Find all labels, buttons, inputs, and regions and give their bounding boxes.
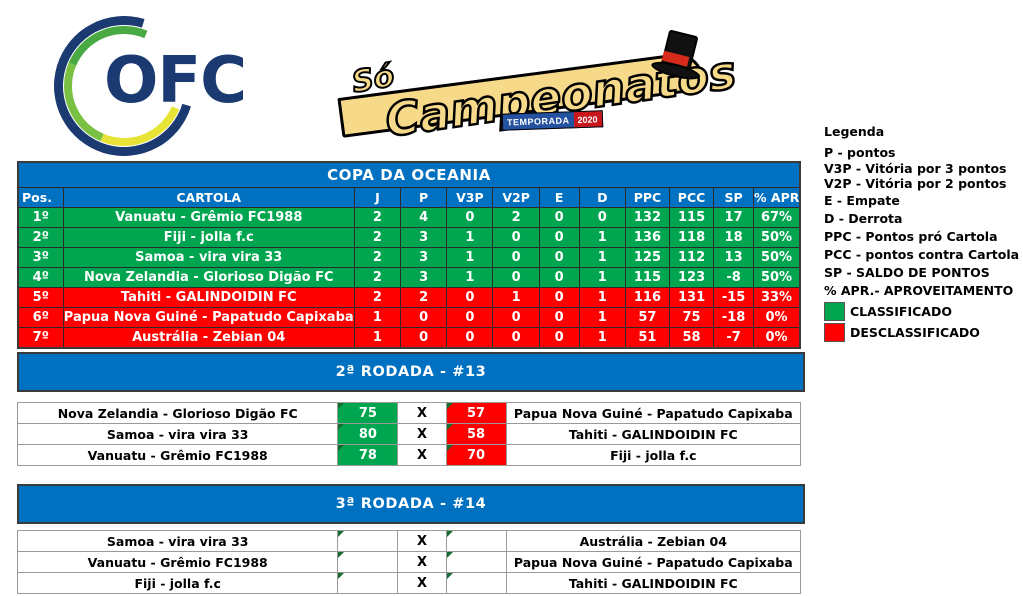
cell-stat: 75 [670, 308, 714, 328]
versus-label: X [398, 531, 446, 552]
cell-stat: 0 [539, 228, 579, 248]
cell-cartola: Nova Zelandia - Glorioso Digão FC [63, 268, 354, 288]
cell-stat: 0 [493, 268, 539, 288]
legend-line-apr: % APR.- APROVEITAMENTO [824, 282, 1022, 300]
legend-line-sp: SP - SALDO DE PONTOS [824, 264, 1022, 282]
classified-color-swatch [824, 302, 845, 321]
match-table-round-3: Samoa - vira vira 33XAustrália - Zebian … [17, 530, 801, 594]
cell-stat: 1 [579, 268, 625, 288]
standings-row: 5ºTahiti - GALINDOIDIN FC220101116131-15… [18, 288, 800, 308]
cell-stat: 50% [754, 248, 800, 268]
cell-stat: 115 [670, 208, 714, 228]
classified-label: CLASSIFICADO [850, 304, 952, 319]
so-campeonatos-logo: Só Campeonatos TEMPORADA 2020 [330, 14, 720, 149]
cell-stat: 0 [539, 268, 579, 288]
temporada-label: TEMPORADA [503, 115, 574, 127]
home-team-name: Fiji - jolla f.c [18, 573, 338, 594]
cell-stat: 0 [401, 328, 447, 349]
cell-stat: 3 [401, 268, 447, 288]
cell-stat: 2 [354, 248, 400, 268]
versus-label: X [398, 552, 446, 573]
cell-stat: 0 [493, 308, 539, 328]
cell-position: 4º [18, 268, 63, 288]
cell-stat: 1 [354, 328, 400, 349]
home-team-name: Nova Zelandia - Glorioso Digão FC [18, 403, 338, 424]
legend-line-d: D - Derrota [824, 210, 1022, 228]
cell-position: 1º [18, 208, 63, 228]
legend-panel: Legenda P - pontos V3P - Vitória por 3 p… [824, 124, 1022, 342]
cell-stat: 123 [670, 268, 714, 288]
comment-flag-icon [338, 445, 344, 451]
comment-flag-icon [338, 403, 344, 409]
cell-stat: 0 [493, 328, 539, 349]
cell-stat: 0 [579, 208, 625, 228]
away-score-cell[interactable] [446, 573, 506, 594]
cell-stat: 2 [493, 208, 539, 228]
cell-stat: 13 [714, 248, 754, 268]
away-team-name: Papua Nova Guiné - Papatudo Capixaba [506, 552, 800, 573]
away-score-cell[interactable]: 70 [446, 445, 506, 466]
ofc-logo: OFC [48, 12, 298, 142]
comment-flag-icon [338, 573, 344, 579]
match-table-round-2: Nova Zelandia - Glorioso Digão FC75X57Pa… [17, 402, 801, 466]
cell-stat: 0 [447, 288, 493, 308]
home-team-name: Vanuatu - Grêmio FC1988 [18, 552, 338, 573]
legend-line-e: E - Empate [824, 192, 1022, 210]
column-header-v2p: V2P [493, 188, 539, 208]
cell-cartola: Austrália - Zebian 04 [63, 328, 354, 349]
cell-stat: 50% [754, 228, 800, 248]
column-header-ppc: PPC [625, 188, 669, 208]
cell-stat: 1 [579, 308, 625, 328]
cell-stat: 33% [754, 288, 800, 308]
versus-label: X [398, 445, 446, 466]
cell-position: 7º [18, 328, 63, 349]
cell-stat: 0 [447, 308, 493, 328]
home-score-cell[interactable] [338, 552, 398, 573]
column-header-cartola: CARTOLA [63, 188, 354, 208]
cell-stat: 1 [579, 228, 625, 248]
versus-label: X [398, 424, 446, 445]
home-team-name: Vanuatu - Grêmio FC1988 [18, 445, 338, 466]
cell-stat: 0 [539, 328, 579, 349]
cell-stat: 51 [625, 328, 669, 349]
cell-stat: 0 [401, 308, 447, 328]
away-score-cell[interactable]: 58 [446, 424, 506, 445]
cell-stat: 1 [579, 288, 625, 308]
comment-flag-icon [447, 445, 453, 451]
cell-stat: 0 [493, 248, 539, 268]
cell-stat: 125 [625, 248, 669, 268]
standings-title-row: COPA DA OCEANIA [18, 162, 800, 188]
cell-stat: 1 [447, 228, 493, 248]
comment-flag-icon [338, 531, 344, 537]
cell-cartola: Papua Nova Guiné - Papatudo Capixaba [63, 308, 354, 328]
cell-stat: -7 [714, 328, 754, 349]
versus-label: X [398, 403, 446, 424]
column-header-p: P [401, 188, 447, 208]
standings-row: 4ºNova Zelandia - Glorioso Digão FC23100… [18, 268, 800, 288]
away-team-name: Tahiti - GALINDOIDIN FC [506, 424, 800, 445]
standings-row: 2ºFiji - jolla f.c2310011361181850% [18, 228, 800, 248]
comment-flag-icon [447, 531, 453, 537]
cell-stat: 118 [670, 228, 714, 248]
comment-flag-icon [447, 424, 453, 430]
standings-row: 3ºSamoa - vira vira 332310011251121350% [18, 248, 800, 268]
temporada-banner: TEMPORADA 2020 [502, 110, 603, 130]
comment-flag-icon [447, 403, 453, 409]
away-team-name: Austrália - Zebian 04 [506, 531, 800, 552]
cell-stat: 131 [670, 288, 714, 308]
home-score-cell[interactable]: 75 [338, 403, 398, 424]
cell-stat: 0 [539, 208, 579, 228]
home-score-cell[interactable]: 78 [338, 445, 398, 466]
cell-stat: 0% [754, 308, 800, 328]
cell-stat: 112 [670, 248, 714, 268]
cell-stat: 58 [670, 328, 714, 349]
home-score-cell[interactable] [338, 573, 398, 594]
cell-stat: 0% [754, 328, 800, 349]
unclassified-label: DESCLASSIFICADO [850, 325, 980, 340]
cell-position: 6º [18, 308, 63, 328]
cell-stat: 3 [401, 228, 447, 248]
match-row: Nova Zelandia - Glorioso Digão FC75X57Pa… [18, 403, 801, 424]
round-banner-3: 3ª RODADA - #14 [17, 484, 805, 524]
cell-stat: 1 [354, 308, 400, 328]
legend-title: Legenda [824, 124, 1022, 139]
column-header-apr: % APR. [754, 188, 800, 208]
comment-flag-icon [447, 573, 453, 579]
legend-unclassified-row: DESCLASSIFICADO [824, 323, 1022, 342]
column-header-sp: SP [714, 188, 754, 208]
unclassified-color-swatch [824, 323, 845, 342]
match-row: Samoa - vira vira 33XAustrália - Zebian … [18, 531, 801, 552]
match-row: Samoa - vira vira 3380X58Tahiti - GALIND… [18, 424, 801, 445]
away-team-name: Tahiti - GALINDOIDIN FC [506, 573, 800, 594]
cell-position: 2º [18, 228, 63, 248]
cell-cartola: Tahiti - GALINDOIDIN FC [63, 288, 354, 308]
cell-position: 5º [18, 288, 63, 308]
cell-stat: 18 [714, 228, 754, 248]
legend-line-p: P - pontos [824, 144, 1022, 162]
legend-line-v3p: V3P - Vitória por 3 pontos [824, 162, 1022, 177]
standings-row: 6ºPapua Nova Guiné - Papatudo Capixaba10… [18, 308, 800, 328]
cell-cartola: Samoa - vira vira 33 [63, 248, 354, 268]
cell-stat: 0 [447, 208, 493, 228]
cell-stat: 2 [401, 288, 447, 308]
cell-stat: 0 [539, 288, 579, 308]
match-row: Vanuatu - Grêmio FC1988XPapua Nova Guiné… [18, 552, 801, 573]
away-score-cell[interactable]: 57 [446, 403, 506, 424]
cell-stat: 3 [401, 248, 447, 268]
cell-position: 3º [18, 248, 63, 268]
cell-stat: 4 [401, 208, 447, 228]
match-row: Vanuatu - Grêmio FC198878X70Fiji - jolla… [18, 445, 801, 466]
legend-line-pcc: PCC - pontos contra Cartola [824, 246, 1022, 264]
cell-stat: 116 [625, 288, 669, 308]
cell-stat: 2 [354, 228, 400, 248]
standings-header-row: Pos.CARTOLAJPV3PV2PEDPPCPCCSP% APR. [18, 188, 800, 208]
away-score-cell[interactable] [446, 552, 506, 573]
home-team-name: Samoa - vira vira 33 [18, 531, 338, 552]
cell-stat: 1 [579, 328, 625, 349]
comment-flag-icon [338, 424, 344, 430]
cell-cartola: Vanuatu - Grêmio FC1988 [63, 208, 354, 228]
home-score-cell[interactable] [338, 531, 398, 552]
cell-stat: -8 [714, 268, 754, 288]
cell-stat: 136 [625, 228, 669, 248]
cell-stat: 2 [354, 268, 400, 288]
cell-stat: 2 [354, 288, 400, 308]
cell-stat: 0 [447, 328, 493, 349]
column-header-pcc: PCC [670, 188, 714, 208]
standings-title: COPA DA OCEANIA [18, 162, 800, 188]
cell-stat: 67% [754, 208, 800, 228]
cell-cartola: Fiji - jolla f.c [63, 228, 354, 248]
home-team-name: Samoa - vira vira 33 [18, 424, 338, 445]
legend-line-ppc: PPC - Pontos pró Cartola [824, 228, 1022, 246]
cell-stat: 1 [493, 288, 539, 308]
cell-stat: 0 [493, 228, 539, 248]
cell-stat: 2 [354, 208, 400, 228]
cell-stat: 0 [539, 248, 579, 268]
column-header-j: J [354, 188, 400, 208]
cell-stat: 132 [625, 208, 669, 228]
away-team-name: Fiji - jolla f.c [506, 445, 800, 466]
cell-stat: -18 [714, 308, 754, 328]
column-header-d: D [579, 188, 625, 208]
away-team-name: Papua Nova Guiné - Papatudo Capixaba [506, 403, 800, 424]
standings-row: 7ºAustrália - Zebian 041000015158-70% [18, 328, 800, 349]
away-score-cell[interactable] [446, 531, 506, 552]
cell-stat: 1 [447, 268, 493, 288]
comment-flag-icon [447, 552, 453, 558]
column-header-e: E [539, 188, 579, 208]
cell-stat: 115 [625, 268, 669, 288]
match-row: Fiji - jolla f.cXTahiti - GALINDOIDIN FC [18, 573, 801, 594]
cell-stat: 50% [754, 268, 800, 288]
ofc-logo-text: OFC [104, 44, 246, 118]
standings-row: 1ºVanuatu - Grêmio FC1988240200132115176… [18, 208, 800, 228]
cell-stat: 17 [714, 208, 754, 228]
legend-classified-row: CLASSIFICADO [824, 302, 1022, 321]
comment-flag-icon [338, 552, 344, 558]
temporada-year: 2020 [573, 111, 602, 127]
cell-stat: 1 [579, 248, 625, 268]
standings-table: COPA DA OCEANIAPos.CARTOLAJPV3PV2PEDPPCP… [17, 161, 801, 349]
cell-stat: 57 [625, 308, 669, 328]
cell-stat: 1 [447, 248, 493, 268]
column-header-pos: Pos. [18, 188, 63, 208]
cell-stat: 0 [539, 308, 579, 328]
round-banner-2: 2ª RODADA - #13 [17, 352, 805, 392]
versus-label: X [398, 573, 446, 594]
top-hat-icon [649, 27, 706, 87]
cell-stat: -15 [714, 288, 754, 308]
home-score-cell[interactable]: 80 [338, 424, 398, 445]
column-header-v3p: V3P [447, 188, 493, 208]
legend-line-v2p: V2P - Vitória por 2 pontos [824, 177, 1022, 192]
